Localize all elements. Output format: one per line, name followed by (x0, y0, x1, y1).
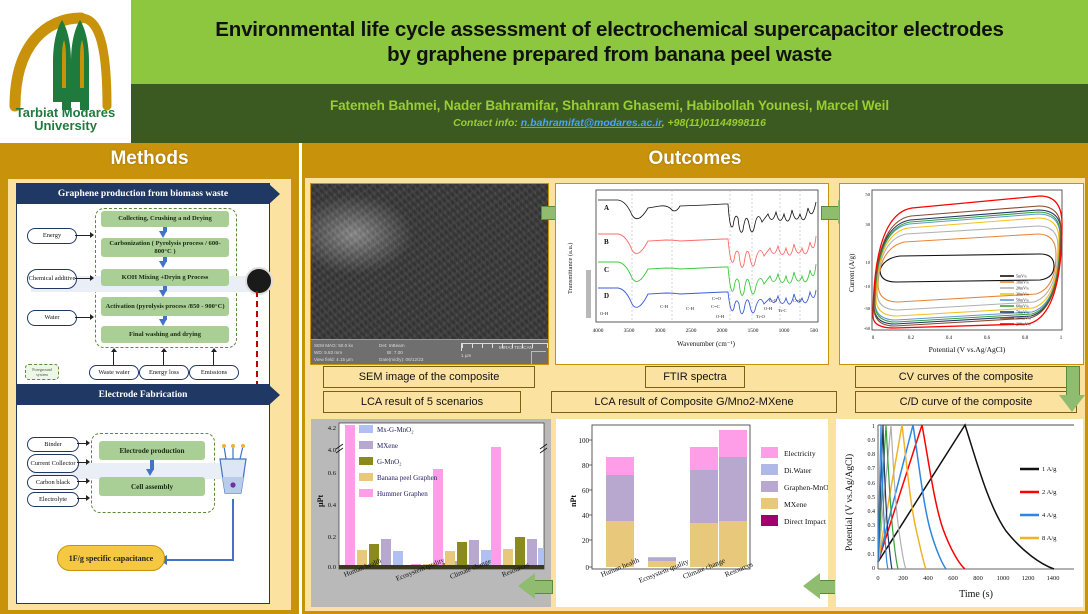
input-electrolyte: Electrolyte (27, 492, 79, 507)
lca5-figure: 4.24.0 0.60.4 0.20.0 µPt (310, 418, 552, 608)
svg-text:500: 500 (810, 328, 818, 334)
lca-composite-chart: 1008060 40200 nPt (556, 419, 828, 607)
section-header-outcomes: Outcomes (302, 143, 1088, 175)
svg-text:C=O: C=O (712, 296, 722, 301)
step-carbonization: Carbonization ( Pyrolysis process / 600-… (101, 238, 229, 257)
cd-chart: 10.90.8 0.70.60.5 0.40.30.2 0.10 0200400… (836, 419, 1083, 607)
electrode-fabrication-header: Electrode Fabrication (17, 385, 269, 405)
input-binder: Binder (27, 437, 79, 452)
step-cell-assembly: Cell assembly (99, 477, 205, 496)
svg-text:0.4: 0.4 (868, 509, 876, 515)
sem-bi: BI: 7.00 (387, 349, 403, 356)
svg-text:0.0: 0.0 (328, 564, 337, 571)
svg-text:50: 50 (865, 192, 870, 197)
sem-view-field: View field: 4.15 µm (314, 356, 353, 363)
svg-text:Potential (V vs.Ag/AgCl): Potential (V vs.Ag/AgCl) (929, 345, 1006, 354)
svg-text:70mV/s: 70mV/s (1016, 310, 1029, 315)
svg-text:20: 20 (582, 537, 590, 545)
sem-det: Det: InBeam (379, 342, 405, 349)
input-water: Water (27, 310, 77, 326)
svg-text:30: 30 (865, 222, 870, 227)
outcomes-panel: SEM MAG: 50.0 kx WD: 5.82 mm View field:… (302, 175, 1088, 614)
svg-text:Current (A/g): Current (A/g) (848, 253, 856, 292)
svg-text:Transmittance (a.u.): Transmittance (a.u.) (567, 243, 574, 294)
svg-text:100mV/s: 100mV/s (1016, 316, 1031, 321)
section-title-methods: Methods (110, 148, 188, 170)
specific-capacitance-result: 1F/g specific capacitance (57, 545, 165, 571)
contact-info: Contact info: n.bahramifat@modares.ac.ir… (453, 117, 766, 129)
svg-text:0.3: 0.3 (868, 523, 876, 529)
svg-text:800: 800 (973, 575, 983, 582)
cv-chart: 00.20.4 0.60.81 503010 -10-30-60 Potenti… (840, 184, 1083, 364)
svg-text:1000: 1000 (779, 328, 790, 334)
title-line-1: Environmental life cycle assessment of e… (215, 17, 1003, 42)
logo-line2: University (7, 119, 125, 132)
svg-text:10mV/s: 10mV/s (1016, 280, 1029, 285)
svg-text:50mV/s: 50mV/s (1016, 298, 1029, 303)
svg-text:-10: -10 (864, 284, 871, 289)
svg-text:1400: 1400 (1047, 575, 1060, 582)
svg-text:Banana peel Graphen: Banana peel Graphen (377, 474, 438, 482)
svg-text:1 A/g: 1 A/g (1042, 466, 1057, 473)
svg-text:1: 1 (1060, 336, 1063, 341)
svg-text:Direct Impact: Direct Impact (784, 517, 827, 526)
svg-text:0.1: 0.1 (868, 552, 876, 558)
svg-text:200mV/s: 200mV/s (1016, 322, 1031, 327)
svg-text:5mV/s: 5mV/s (1016, 274, 1027, 279)
svg-text:4.0: 4.0 (328, 447, 337, 454)
svg-text:4 A/g: 4 A/g (1042, 512, 1057, 519)
svg-text:0.8: 0.8 (1022, 336, 1029, 341)
input-current-collector: Current Collector (27, 454, 79, 473)
svg-text:0.6: 0.6 (328, 470, 337, 477)
sem-instrument: MIRA3 TESCAN (499, 344, 533, 351)
electrochemical-cell-icon (215, 443, 251, 499)
svg-text:2500: 2500 (686, 328, 697, 334)
svg-text:Ti-C: Ti-C (778, 308, 787, 313)
svg-text:0.2: 0.2 (868, 537, 876, 543)
caption-cv: CV curves of the composite (855, 366, 1077, 388)
svg-text:4.2: 4.2 (328, 425, 336, 432)
svg-text:0.2: 0.2 (328, 534, 336, 541)
svg-text:C-O: C-O (769, 298, 778, 303)
sem-micrograph (311, 184, 548, 364)
svg-text:-60: -60 (864, 326, 871, 331)
svg-text:Potential (V vs.Ag/AgCl): Potential (V vs.Ag/AgCl) (844, 454, 855, 551)
step-activation: Activation (pyrolysis process /850 - 900… (101, 297, 229, 316)
svg-text:30mV/s: 30mV/s (1016, 292, 1029, 297)
svg-text:nPt: nPt (569, 495, 578, 507)
svg-text:4000: 4000 (593, 328, 604, 334)
caption-lca5: LCA result of 5 scenarios (323, 391, 521, 413)
svg-text:1200: 1200 (1022, 575, 1035, 582)
poster-title-band: Environmental life cycle assessment of e… (131, 0, 1088, 84)
svg-text:8 A/g: 8 A/g (1042, 535, 1057, 542)
svg-text:40: 40 (582, 512, 590, 520)
svg-text:2 A/g: 2 A/g (1042, 489, 1057, 496)
contact-phone: , +98(11)01144998116 (662, 117, 766, 129)
poster-header: Tarbiat Modares University Environmental… (0, 0, 1088, 143)
contact-label: Contact info: (453, 117, 518, 129)
electrode-fabrication-diagram: Electrode Fabrication Binder Current Col… (16, 384, 270, 604)
svg-text:20mV/s: 20mV/s (1016, 286, 1029, 291)
svg-text:C-H: C-H (686, 306, 695, 311)
title-line-2: by graphene prepared from banana peel wa… (215, 42, 1003, 67)
caption-ftir: FTIR spectra (645, 366, 745, 388)
sem-date: Date(m/d/y): 06/12/23 (379, 356, 423, 363)
svg-text:10: 10 (865, 260, 870, 265)
svg-text:0.4: 0.4 (946, 336, 953, 341)
page-title: Environmental life cycle assessment of e… (209, 17, 1009, 67)
step-koh-mixing: KOH Mixing +Dryin g Process (101, 269, 229, 286)
svg-text:80: 80 (582, 462, 590, 470)
svg-text:3500: 3500 (624, 328, 635, 334)
step-collecting: Collecting, Crushing a nd Drying (101, 211, 229, 227)
graphene-production-diagram: Graphene production from biomass waste E… (16, 183, 270, 391)
arrow-cv-to-cd (1059, 366, 1085, 414)
ftir-figure: A B C D O-HC-H C-HC=O C=CO-H C-OO- (555, 183, 829, 365)
graphene-product-dot (245, 267, 273, 295)
svg-text:O-H: O-H (600, 311, 609, 316)
svg-text:0: 0 (872, 336, 875, 341)
svg-text:Wavenumber (cm⁻¹): Wavenumber (cm⁻¹) (677, 340, 736, 348)
arrow-cd-to-lca-composite (803, 573, 837, 599)
svg-text:Hummer Graphen: Hummer Graphen (377, 490, 428, 498)
sem-wd: WD: 5.82 mm (314, 349, 342, 356)
svg-text:0.2: 0.2 (908, 336, 915, 341)
svg-text:C-H: C-H (660, 304, 669, 309)
arrow-lca-composite-to-lca5 (518, 573, 552, 599)
cv-figure: 00.20.4 0.60.81 503010 -10-30-60 Potenti… (839, 183, 1084, 365)
sem-mag: SEM MAG: 50.0 kx (314, 342, 353, 349)
svg-text:Ti-O: Ti-O (756, 314, 765, 319)
svg-text:C=C: C=C (793, 298, 802, 303)
svg-text:600: 600 (948, 575, 958, 582)
svg-text:Di.Water: Di.Water (784, 466, 812, 475)
cv-legend: 5mV/s10mV/s 20mV/s30mV/s 50mV/s60mV/s 70… (1000, 274, 1031, 327)
svg-text:-30: -30 (864, 306, 871, 311)
caption-cd: C/D curve of the composite (855, 391, 1077, 413)
svg-text:G-MnO₂: G-MnO₂ (377, 458, 402, 466)
author-list: Fatemeh Bahmei, Nader Bahramifar, Shahra… (330, 98, 889, 113)
svg-text:0.6: 0.6 (868, 481, 876, 487)
output-waste-water: Waste water (89, 365, 139, 380)
svg-text:B: B (604, 238, 609, 246)
svg-text:D: D (604, 292, 609, 300)
svg-text:1: 1 (872, 424, 875, 430)
outcomes-content: SEM MAG: 50.0 kx WD: 5.82 mm View field:… (305, 178, 1085, 611)
svg-text:1000: 1000 (997, 575, 1010, 582)
svg-text:Mx-G-MnO₂: Mx-G-MnO₂ (377, 426, 414, 434)
sem-info-bar: SEM MAG: 50.0 kx WD: 5.82 mm View field:… (311, 339, 548, 364)
university-logo: Tarbiat Modares University (0, 0, 131, 143)
svg-text:Electricity: Electricity (784, 449, 816, 458)
svg-text:Graphen-MnO₂: Graphen-MnO₂ (784, 483, 828, 492)
author-band: Fatemeh Bahmei, Nader Bahramifar, Shahra… (131, 84, 1088, 143)
svg-text:C=C: C=C (711, 304, 720, 309)
input-energy: Energy (27, 228, 77, 244)
svg-text:0.6: 0.6 (984, 336, 991, 341)
logo-mark (7, 6, 125, 116)
output-emissions: Emissions (189, 365, 239, 380)
red-link-vertical-1 (256, 291, 258, 397)
poster-root: Tarbiat Modares University Environmental… (0, 0, 1088, 614)
sem-image-figure: SEM MAG: 50.0 kx WD: 5.82 mm View field:… (310, 183, 549, 365)
svg-text:1500: 1500 (748, 328, 759, 334)
foreground-system-note: Foreground system (25, 364, 59, 380)
caption-lca-composite: LCA result of Composite G/Mno2-MXene (551, 391, 837, 413)
svg-text:0.9: 0.9 (868, 438, 876, 444)
svg-text:MXene: MXene (784, 500, 807, 509)
svg-text:400: 400 (923, 575, 933, 582)
lca-composite-figure: 1008060 40200 nPt (555, 418, 829, 608)
svg-text:0.4: 0.4 (328, 502, 337, 509)
step-final-washing: Final washing and drying (101, 326, 229, 343)
svg-text:A: A (604, 204, 609, 212)
caption-sem: SEM image of the composite (323, 366, 535, 388)
svg-text:C: C (604, 266, 609, 274)
svg-text:0: 0 (586, 564, 590, 572)
output-energy-loss: Energy loss (139, 365, 189, 380)
input-chemical-additive: Chemical additive (27, 269, 77, 289)
svg-text:0: 0 (872, 566, 875, 572)
svg-text:µPt: µPt (316, 495, 325, 507)
svg-text:0.7: 0.7 (868, 466, 876, 472)
section-title-outcomes: Outcomes (649, 148, 742, 170)
svg-text:200: 200 (898, 575, 908, 582)
svg-text:0: 0 (876, 575, 879, 582)
ftir-chart: A B C D O-HC-H C-HC=O C=CO-H C-OO- (556, 184, 828, 364)
svg-text:3000: 3000 (655, 328, 666, 334)
input-carbon-black: Carbon black (27, 475, 79, 490)
cd-figure: 10.90.8 0.70.60.5 0.40.30.2 0.10 0200400… (835, 418, 1084, 608)
svg-text:60: 60 (582, 487, 590, 495)
svg-text:Time (s): Time (s) (959, 589, 993, 600)
logo-line1: Tarbiat Modares (7, 106, 125, 119)
lca5-chart: 4.24.0 0.60.4 0.20.0 µPt (311, 419, 551, 607)
svg-text:0.5: 0.5 (868, 495, 876, 501)
methods-panel: Graphene production from biomass waste E… (0, 175, 299, 614)
svg-text:2000: 2000 (717, 328, 728, 334)
graphene-production-header: Graphene production from biomass waste (17, 184, 269, 204)
svg-text:100: 100 (579, 437, 590, 445)
step-electrode-production: Electrode production (99, 441, 205, 460)
svg-text:0.8: 0.8 (868, 452, 876, 458)
svg-text:60mV/s: 60mV/s (1016, 304, 1029, 309)
logo-text: Tarbiat Modares University (7, 106, 125, 132)
contact-email-link[interactable]: n.bahramifat@modares.ac.ir (521, 117, 662, 129)
svg-text:MXene: MXene (377, 442, 398, 450)
sem-scale-label: 1 µm (461, 352, 471, 359)
svg-text:O-H: O-H (764, 306, 773, 311)
svg-text:O-H: O-H (716, 314, 725, 319)
methods-content: Graphene production from biomass waste E… (8, 179, 291, 610)
section-header-methods: Methods (0, 143, 299, 175)
